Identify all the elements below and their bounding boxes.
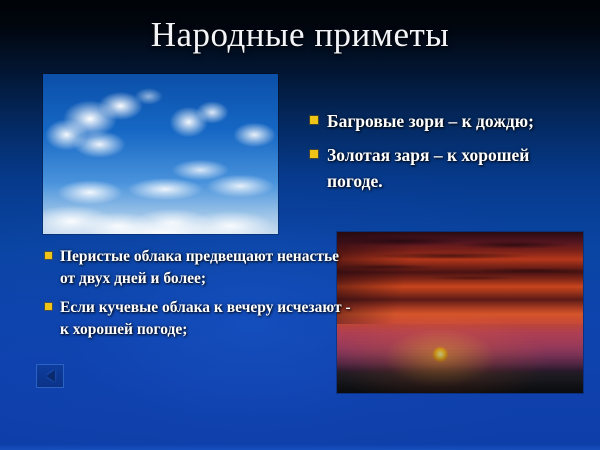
- bullet-text: Если кучевые облака к вечеру исчезают - …: [60, 297, 355, 341]
- sunset-photo: [337, 232, 583, 393]
- bullet-square-icon: [310, 150, 318, 158]
- slide-title: Народные приметы: [0, 14, 600, 56]
- bullet-square-icon: [45, 303, 52, 310]
- list-item: Багровые зори – к дождю;: [310, 108, 580, 134]
- bullet-square-icon: [45, 252, 52, 259]
- triangle-left-icon: [46, 370, 55, 382]
- list-item: Перистые облака предвещают ненастье от д…: [45, 246, 355, 290]
- bullet-text: Багровые зори – к дождю;: [327, 108, 580, 134]
- clouds-photo: [43, 74, 278, 234]
- bullet-square-icon: [310, 116, 318, 124]
- back-navigation-button[interactable]: [36, 364, 64, 388]
- sunset-cloud-streaks: [337, 232, 583, 324]
- bullet-text: Золотая заря – к хорошей погоде.: [327, 142, 580, 194]
- bullet-text: Перистые облака предвещают ненастье от д…: [60, 246, 355, 290]
- list-item: Золотая заря – к хорошей погоде.: [310, 142, 580, 194]
- sunset-ocean-texture: [337, 324, 583, 393]
- bullet-list-left: Перистые облака предвещают ненастье от д…: [45, 246, 355, 341]
- list-item: Если кучевые облака к вечеру исчезают - …: [45, 297, 355, 341]
- bullet-list-right: Багровые зори – к дождю; Золотая заря – …: [310, 108, 580, 194]
- presentation-slide: Народные приметы Багровые зори – к дождю…: [0, 0, 600, 450]
